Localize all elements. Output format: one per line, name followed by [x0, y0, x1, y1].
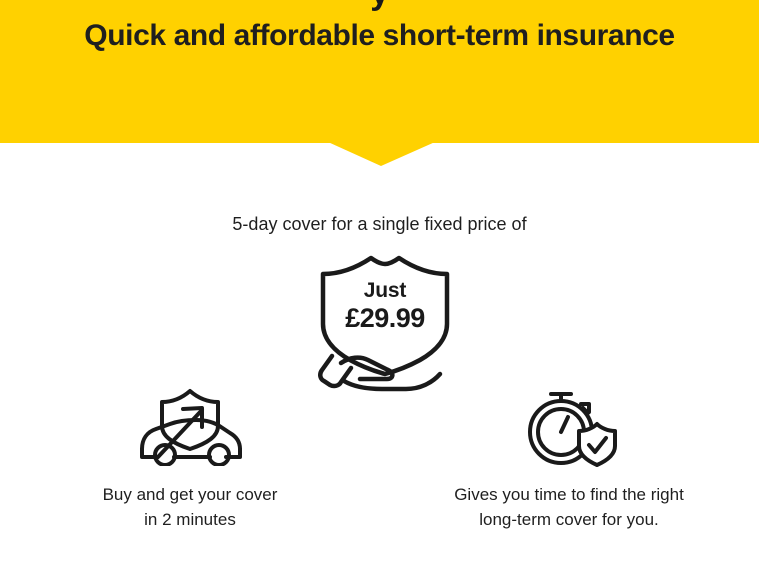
car-shield-arrow-icon	[20, 380, 360, 472]
triangle-down-icon	[328, 142, 435, 166]
promo-banner: y Quick and affordable short-term insura…	[0, 0, 759, 143]
feature-time-caption-line2: long-term cover for you.	[399, 507, 739, 532]
shield-in-hand-icon	[310, 252, 460, 392]
banner-headline: Quick and affordable short-term insuranc…	[0, 18, 759, 54]
feature-speed-caption-line2: in 2 minutes	[20, 507, 360, 532]
feature-time-to-find-cover: Gives you time to find the right long-te…	[399, 380, 739, 532]
stopwatch-shield-check-icon	[399, 380, 739, 472]
feature-time-caption: Gives you time to find the right long-te…	[399, 482, 739, 532]
banner-eyebrow-text: y	[0, 0, 759, 12]
price-intro-text: 5-day cover for a single fixed price of	[0, 212, 759, 236]
feature-speed-caption: Buy and get your cover in 2 minutes	[20, 482, 360, 532]
feature-time-caption-line1: Gives you time to find the right	[399, 482, 739, 507]
feature-speed-caption-line1: Buy and get your cover	[20, 482, 360, 507]
feature-buy-in-2-minutes: Buy and get your cover in 2 minutes	[20, 380, 360, 532]
